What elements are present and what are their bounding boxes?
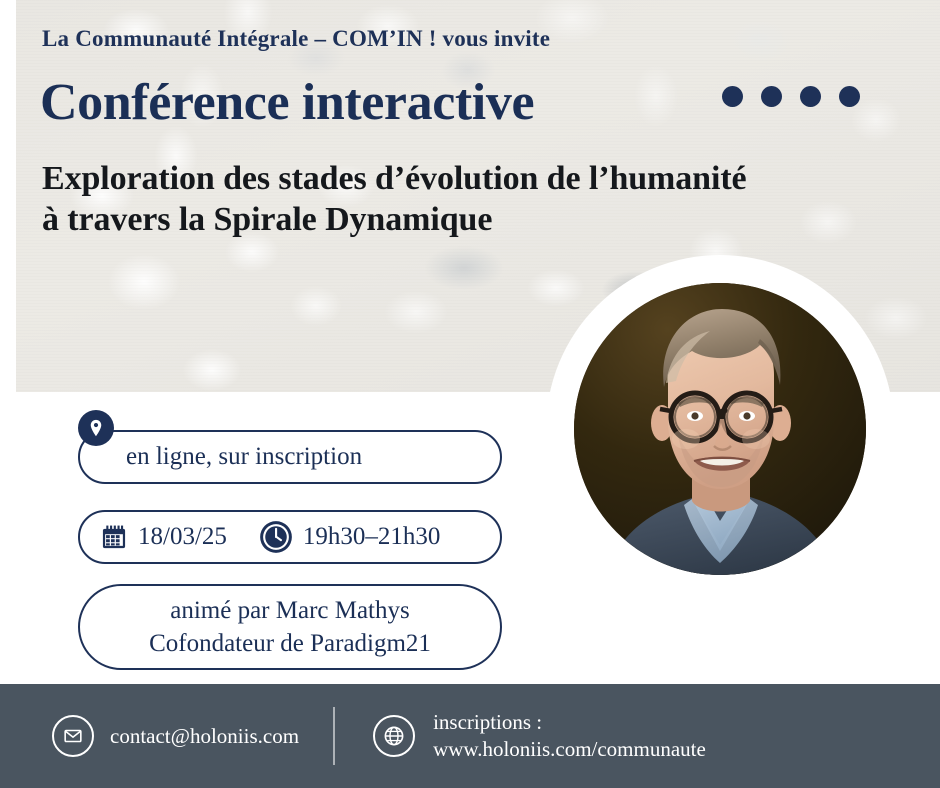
location-pill[interactable]: en ligne, sur inscription: [78, 430, 502, 484]
speaker-pill[interactable]: animé par Marc Mathys Cofondateur de Par…: [78, 584, 502, 670]
subtitle-line-2: à travers la Spirale Dynamique: [42, 199, 932, 240]
time-group: 19h30–21h30: [259, 520, 441, 554]
registration-text: inscriptions : www.holoniis.com/communau…: [433, 709, 706, 764]
footer-bar: contact@holoniis.com inscriptions : www.…: [0, 684, 940, 788]
map-pin-icon: [78, 410, 114, 446]
datetime-pill[interactable]: 18/03/25 19h30–21h30: [78, 510, 502, 564]
decor-dot-icon: [722, 86, 743, 107]
page-subtitle: Exploration des stades d’évolution de l’…: [42, 158, 932, 241]
decor-dot-icon: [761, 86, 782, 107]
date-label: 18/03/25: [138, 523, 227, 551]
time-label: 19h30–21h30: [303, 523, 441, 551]
clock-icon: [259, 520, 293, 554]
avatar: [574, 283, 866, 575]
kicker-text: La Communauté Intégrale – COM’IN ! vous …: [42, 26, 550, 52]
contact-email-label: contact@holoniis.com: [110, 724, 299, 749]
footer-divider: [333, 707, 335, 765]
date-group: 18/03/25: [100, 523, 227, 551]
globe-icon: [373, 715, 415, 757]
poster-canvas: La Communauté Intégrale – COM’IN ! vous …: [0, 0, 940, 788]
contact-email-group[interactable]: contact@holoniis.com: [52, 715, 299, 757]
decor-dot-icon: [800, 86, 821, 107]
location-label: en ligne, sur inscription: [126, 443, 362, 471]
calendar-icon: [100, 523, 128, 551]
page-title: Conférence interactive: [40, 76, 534, 131]
decorative-dots: [722, 86, 860, 107]
decor-dot-icon: [839, 86, 860, 107]
registration-label: inscriptions :: [433, 709, 706, 736]
envelope-icon: [52, 715, 94, 757]
registration-group[interactable]: inscriptions : www.holoniis.com/communau…: [373, 709, 706, 764]
speaker-name-label: animé par Marc Mathys: [170, 594, 410, 627]
registration-url: www.holoniis.com/communaute: [433, 736, 706, 763]
subtitle-line-1: Exploration des stades d’évolution de l’…: [42, 158, 932, 199]
speaker-role-label: Cofondateur de Paradigm21: [149, 627, 431, 660]
